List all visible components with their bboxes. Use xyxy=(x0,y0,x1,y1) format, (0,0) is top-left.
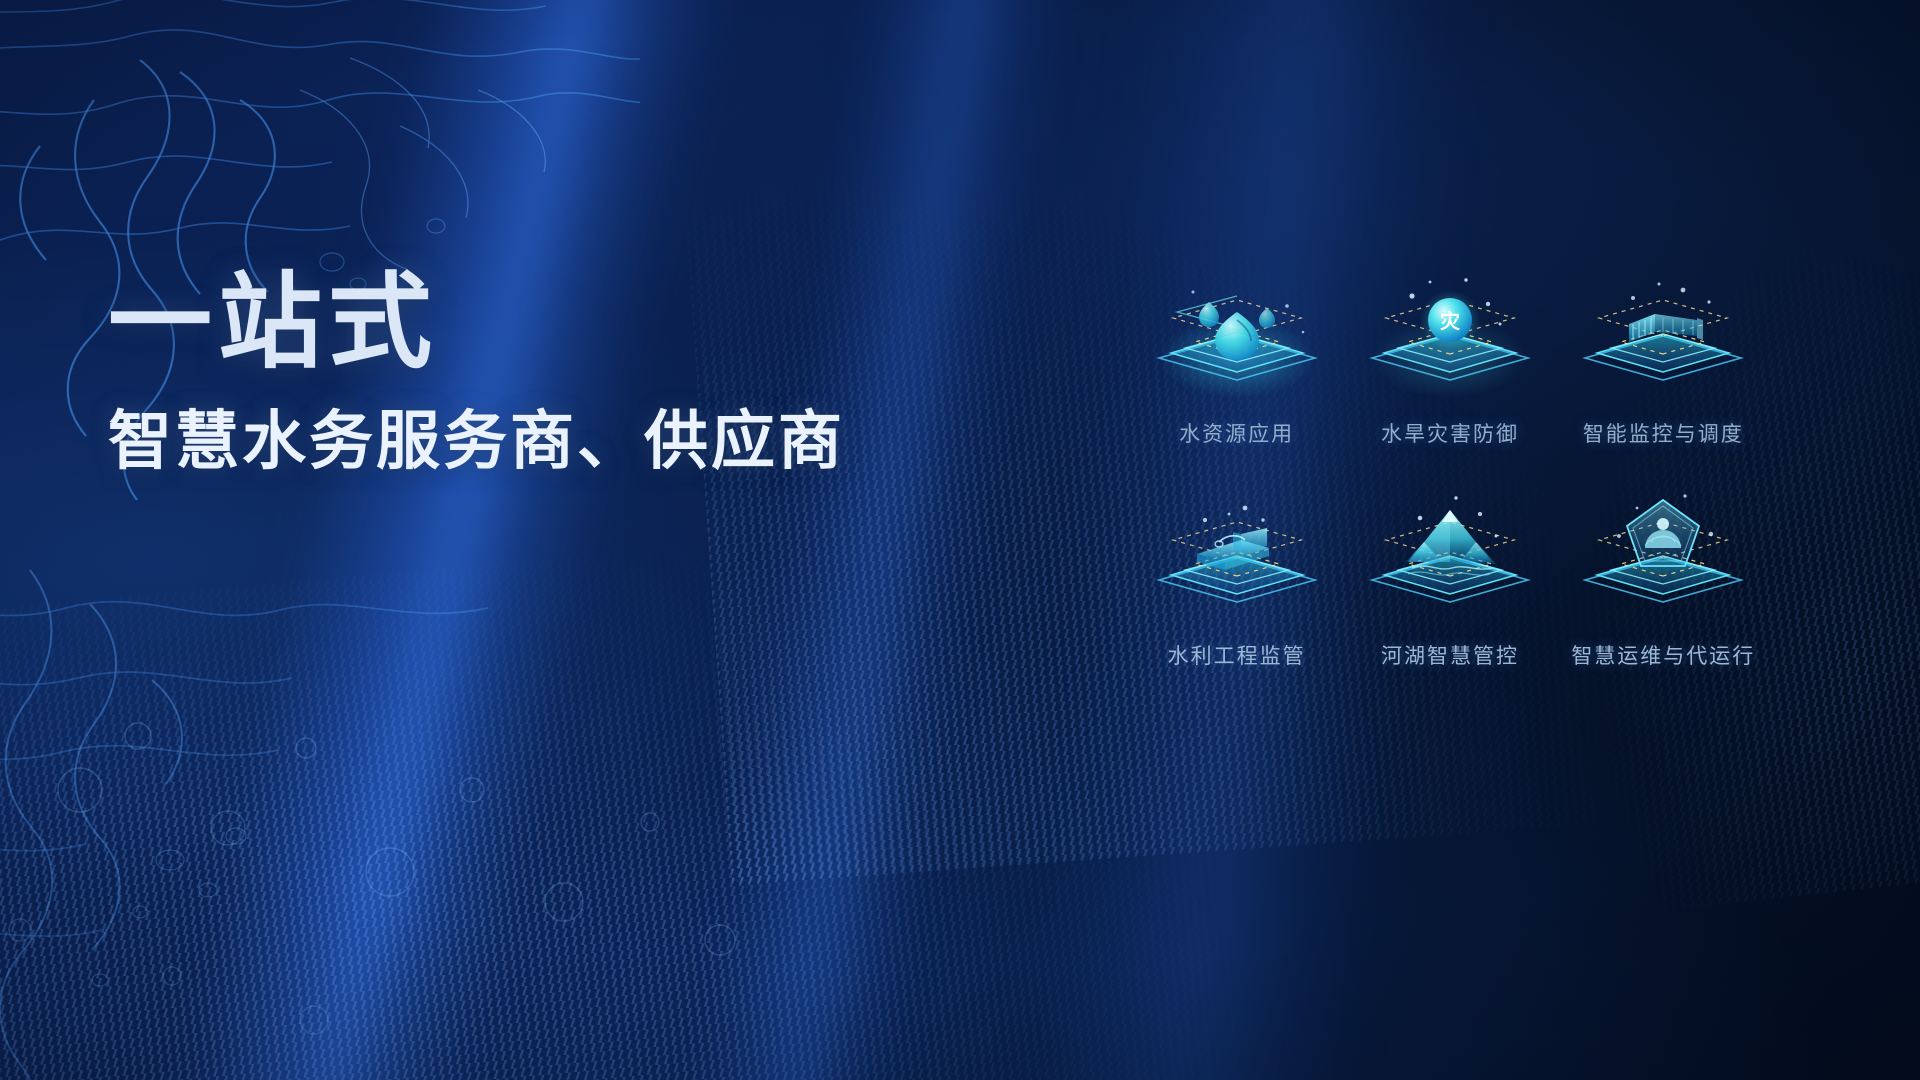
slide-canvas: 一站式 智慧水务服务商、供应商 xyxy=(0,0,1920,1080)
shield-operations-isometric-icon xyxy=(1563,484,1763,634)
capability-label: 水旱灾害防御 xyxy=(1381,418,1519,448)
capability-item-smart-monitoring[interactable]: 智能监控与调度 xyxy=(1557,262,1770,448)
page-subtitle: 智慧水务服务商、供应商 xyxy=(108,404,1008,480)
capability-item-river-lake-control[interactable]: 河湖智慧管控 xyxy=(1343,484,1556,670)
water-splash-texture-lower-icon xyxy=(0,560,600,1080)
pipeline-works-isometric-icon xyxy=(1137,484,1337,634)
disaster-sphere-isometric-icon: 灾 xyxy=(1350,262,1550,412)
capability-label: 河湖智慧管控 xyxy=(1381,640,1519,670)
capability-label: 智能监控与调度 xyxy=(1583,418,1744,448)
river-mountain-isometric-icon xyxy=(1350,484,1550,634)
headline-block: 一站式 智慧水务服务商、供应商 xyxy=(108,268,1008,480)
bubble-texture-icon xyxy=(0,640,860,1080)
disaster-badge-character: 灾 xyxy=(1440,309,1460,333)
capability-label: 智慧运维与代运行 xyxy=(1571,640,1755,670)
page-title: 一站式 xyxy=(108,268,1008,378)
capability-label: 水利工程监管 xyxy=(1168,640,1306,670)
light-ribbon-decoration xyxy=(137,0,757,1080)
water-droplet-isometric-icon xyxy=(1137,262,1337,412)
capability-item-smart-ops[interactable]: 智慧运维与代运行 xyxy=(1557,484,1770,670)
dam-monitoring-isometric-icon xyxy=(1563,262,1763,412)
capability-item-water-resource[interactable]: 水资源应用 xyxy=(1130,262,1343,448)
capability-item-project-supervision[interactable]: 水利工程监管 xyxy=(1130,484,1343,670)
capability-item-flood-drought[interactable]: 灾 水旱灾害防御 xyxy=(1343,262,1556,448)
capability-grid: 水资源应用 xyxy=(1130,262,1770,670)
capability-label: 水资源应用 xyxy=(1179,418,1294,448)
light-ribbon-decoration-2 xyxy=(656,0,1091,1080)
